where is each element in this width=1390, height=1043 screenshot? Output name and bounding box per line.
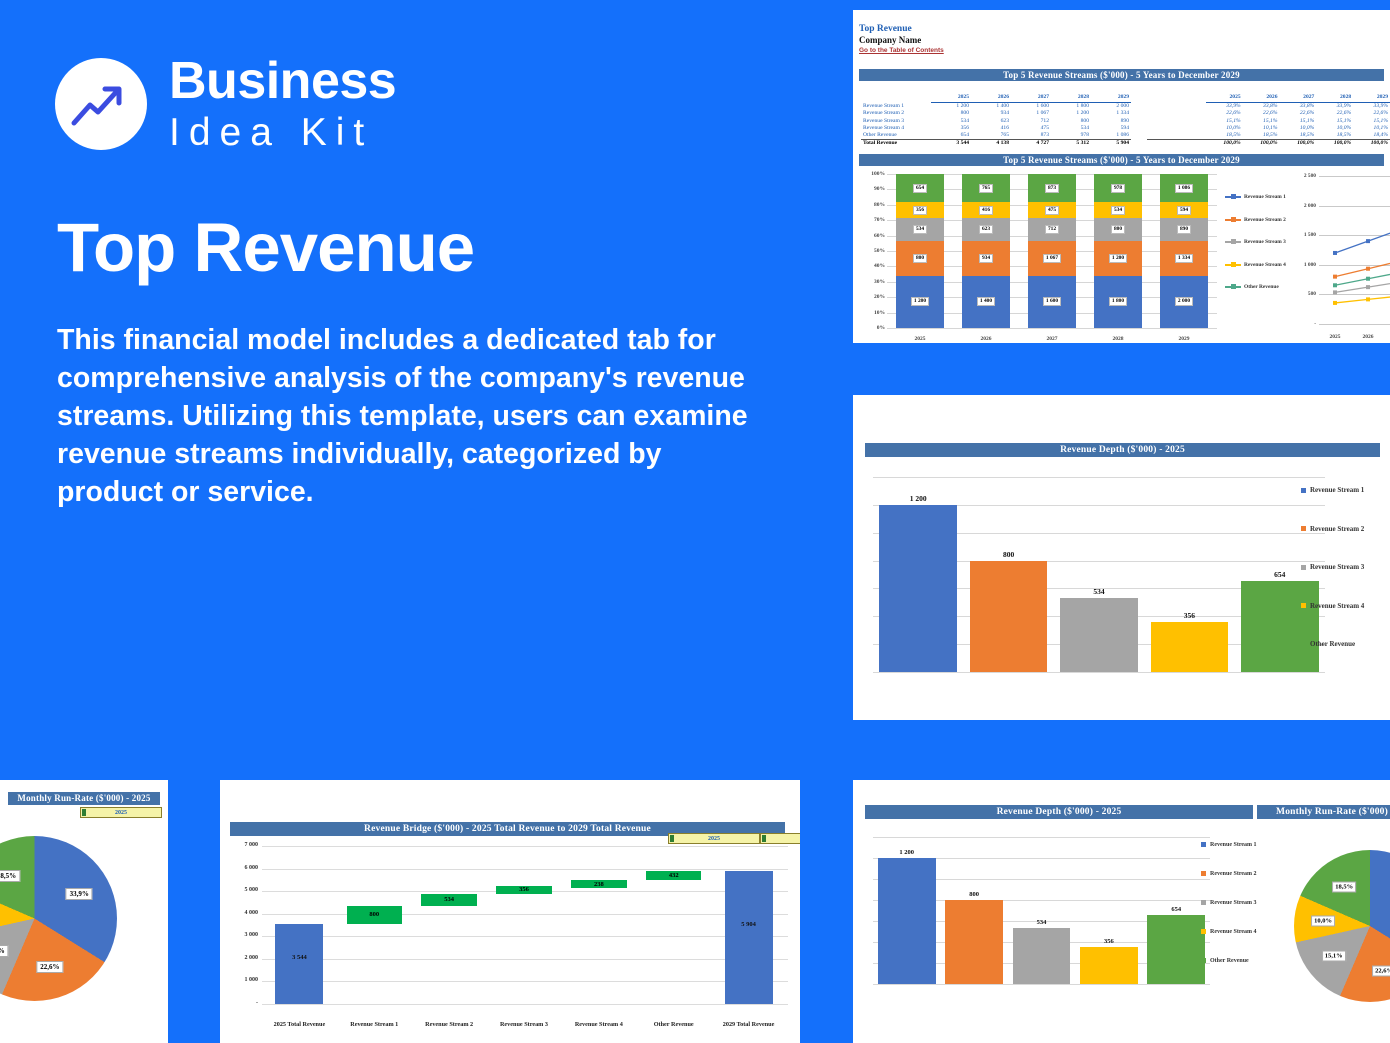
legend-item: Revenue Stream 3 (1201, 888, 1291, 917)
spreadsheet-panel-top: Top Revenue Company Name Go to the Table… (853, 10, 1390, 343)
revenue-depth-legend-mid: Revenue Stream 1Revenue Stream 2Revenue … (1301, 471, 1390, 664)
brand-logo: Business Idea Kit (55, 55, 396, 152)
pie-slice-label: 33,9% (66, 888, 93, 900)
growth-arrow-icon (55, 58, 147, 150)
line-chart-legend: Revenue Stream 1Revenue Stream 2Revenue … (1225, 186, 1297, 299)
monthly-run-rate-pie-left: 33,9%22,6%15,1%10,0%18,5% (0, 836, 117, 1001)
revenue-depth-panel: Revenue Depth ($'000) - 2025 1 200800534… (853, 395, 1390, 720)
legend-item: Revenue Stream 2 (1225, 209, 1297, 232)
revenue-table-percent: 2025202620272028202933,9%33,8%33,8%33,9%… (1147, 94, 1390, 147)
stacked-100-chart: 0%10%20%30%40%50%60%70%80%90%100%1 20080… (861, 170, 1221, 343)
legend-item: Revenue Stream 3 (1225, 231, 1297, 254)
legend-item: Revenue Stream 2 (1301, 510, 1390, 549)
page-description: This financial model includes a dedicate… (57, 322, 767, 511)
legend-item: Revenue Stream 1 (1201, 830, 1291, 859)
brand-subtitle: Idea Kit (169, 113, 396, 152)
chart-banner: Top 5 Revenue Streams ($'000) - 5 Years … (859, 154, 1384, 166)
legend-item: Other Revenue (1301, 625, 1390, 664)
revenue-depth-chart-br: 1 200800534356654 (865, 825, 1210, 990)
pie-slice-label: 18,5% (1332, 881, 1356, 892)
trend-line-chart: -5001 0001 5002 0002 50020252026 (1297, 168, 1390, 343)
pie-slice-label: 10,0% (1311, 916, 1335, 927)
legend-item: Other Revenue (1225, 276, 1297, 299)
brand-title: Business (169, 55, 396, 107)
legend-item: Revenue Stream 4 (1225, 254, 1297, 277)
pie-slice-label: 15,1% (0, 945, 9, 957)
sheet-header: Top Revenue Company Name Go to the Table… (859, 24, 944, 54)
page-title: Top Revenue (57, 208, 474, 287)
legend-item: Revenue Stream 1 (1301, 471, 1390, 510)
legend-item: Revenue Stream 4 (1201, 917, 1291, 946)
legend-item: Other Revenue (1201, 946, 1291, 975)
legend-item: Revenue Stream 1 (1225, 186, 1297, 209)
legend-item: Revenue Stream 3 (1301, 548, 1390, 587)
monthly-run-rate-title-br: Monthly Run-Rate ($'000) (1257, 805, 1390, 819)
revenue-depth-title: Revenue Depth ($'000) - 2025 (865, 443, 1380, 457)
company-name: Company Name (859, 35, 944, 45)
revenue-bridge-panel: Revenue Bridge ($'000) - 2025 Total Reve… (220, 780, 800, 1043)
table-banner: Top 5 Revenue Streams ($'000) - 5 Years … (859, 69, 1384, 81)
monthly-run-rate-panel-left: Monthly Run-Rate ($'000) - 2025 2025 33,… (0, 780, 168, 1043)
hero-section: Business Idea Kit Top Revenue This finan… (0, 0, 840, 780)
sheet-title: Top Revenue (859, 24, 944, 34)
year-selector[interactable]: 2025 (80, 807, 162, 818)
revenue-depth-legend-br: Revenue Stream 1Revenue Stream 2Revenue … (1201, 830, 1291, 975)
legend-item: Revenue Stream 2 (1201, 859, 1291, 888)
monthly-run-rate-title: Monthly Run-Rate ($'000) - 2025 (8, 792, 160, 805)
toc-link[interactable]: Go to the Table of Contents (859, 47, 944, 54)
revenue-table-values: 20252026202720282029Revenue Stream 11 20… (861, 94, 1131, 147)
revenue-depth-title-br: Revenue Depth ($'000) - 2025 (865, 805, 1253, 819)
pie-slice-label: 22,6% (36, 961, 63, 973)
pie-slice-label: 18,5% (0, 870, 20, 882)
revenue-bridge-chart: -1 0002 0003 0004 0005 0006 0007 0003 54… (230, 840, 790, 1030)
pie-slice-label: 22,6% (1372, 965, 1390, 976)
pie-slice-label: 15,1% (1322, 951, 1346, 962)
revenue-depth-chart-mid: 1 200800534356654 (865, 463, 1325, 678)
legend-item: Revenue Stream 4 (1301, 587, 1390, 626)
